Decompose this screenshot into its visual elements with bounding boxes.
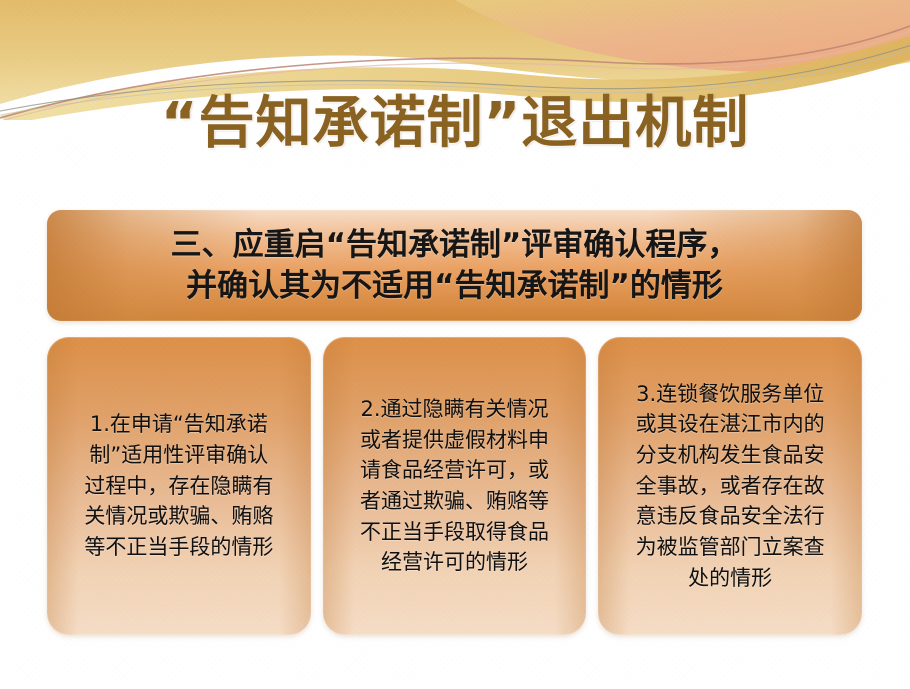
swoosh-peach-lobe xyxy=(455,0,910,72)
condition-card-group: 1.在申请“告知承诺 制”适用性评审确认 过程中，存在隐瞒有 关情况或欺骗、贿赂… xyxy=(47,337,862,635)
card-1-line-2: 制”适用性评审确认 xyxy=(59,440,299,471)
card-2-line-4: 者通过欺骗、贿赂等 xyxy=(335,486,575,517)
card-3-line-4: 全事故，或者存在故 xyxy=(610,471,850,502)
condition-card-1: 1.在申请“告知承诺 制”适用性评审确认 过程中，存在隐瞒有 关情况或欺骗、贿赂… xyxy=(47,337,311,635)
card-3-line-2: 或其设在湛江市内的 xyxy=(610,409,850,440)
condition-card-3-text: 3.连锁餐饮服务单位 或其设在湛江市内的 分支机构发生食品安 全事故，或者存在故… xyxy=(598,379,862,594)
card-1-line-4: 关情况或欺骗、贿赂 xyxy=(59,501,299,532)
card-3-line-3: 分支机构发生食品安 xyxy=(610,440,850,471)
card-2-line-2: 或者提供虚假材料申 xyxy=(335,425,575,456)
card-3-line-6: 为被监管部门立案查 xyxy=(610,532,850,563)
card-2-line-3: 请食品经营许可，或 xyxy=(335,455,575,486)
condition-card-1-text: 1.在申请“告知承诺 制”适用性评审确认 过程中，存在隐瞒有 关情况或欺骗、贿赂… xyxy=(47,409,311,562)
card-1-line-3: 过程中，存在隐瞒有 xyxy=(59,471,299,502)
condition-card-2: 2.通过隐瞒有关情况 或者提供虚假材料申 请食品经营许可，或 者通过欺骗、贿赂等… xyxy=(323,337,587,635)
card-1-line-1: 1.在申请“告知承诺 xyxy=(59,409,299,440)
section-heading-text: 三、应重启“告知承诺制”评审确认程序， 并确认其为不适用“告知承诺制”的情形 xyxy=(47,225,862,307)
page-title: “告知承诺制”退出机制 xyxy=(0,96,910,152)
card-2-line-6: 经营许可的情形 xyxy=(335,547,575,578)
swoosh-gold-field xyxy=(0,0,910,104)
card-3-line-1: 3.连锁餐饮服务单位 xyxy=(610,379,850,410)
condition-card-2-text: 2.通过隐瞒有关情况 或者提供虚假材料申 请食品经营许可，或 者通过欺骗、贿赂等… xyxy=(323,394,587,578)
condition-card-3: 3.连锁餐饮服务单位 或其设在湛江市内的 分支机构发生食品安 全事故，或者存在故… xyxy=(598,337,862,635)
card-3-line-7: 处的情形 xyxy=(610,563,850,594)
section-heading-line-2: 并确认其为不适用“告知承诺制”的情形 xyxy=(55,266,854,307)
card-2-line-1: 2.通过隐瞒有关情况 xyxy=(335,394,575,425)
section-heading-banner: 三、应重启“告知承诺制”评审确认程序， 并确认其为不适用“告知承诺制”的情形 xyxy=(47,210,862,321)
presentation-slide: “告知承诺制”退出机制 三、应重启“告知承诺制”评审确认程序， 并确认其为不适用… xyxy=(0,0,910,689)
section-heading-line-1: 三、应重启“告知承诺制”评审确认程序， xyxy=(55,225,854,266)
card-1-line-5: 等不正当手段的情形 xyxy=(59,532,299,563)
card-2-line-5: 不正当手段取得食品 xyxy=(335,517,575,548)
card-3-line-5: 意违反食品安全法行 xyxy=(610,501,850,532)
